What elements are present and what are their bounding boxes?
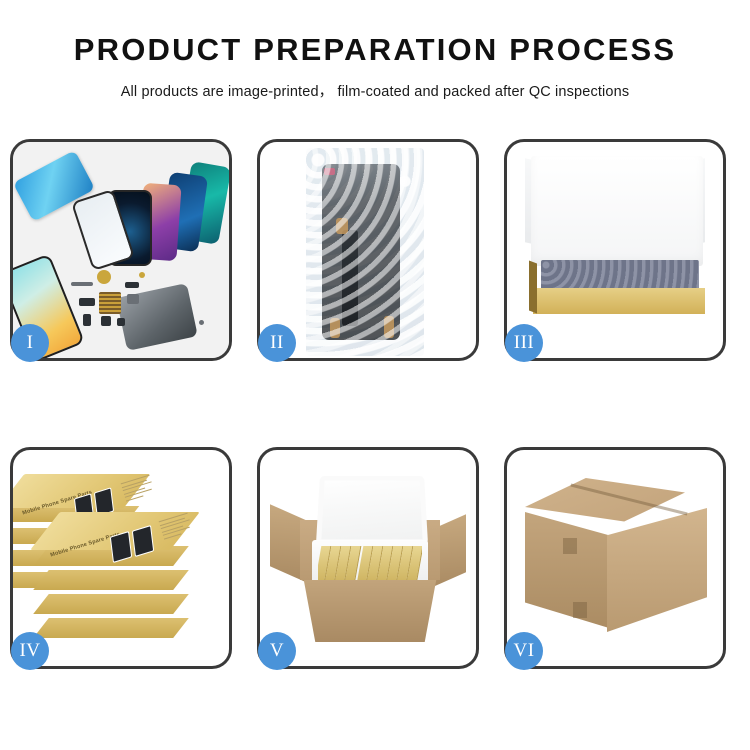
part-camera [127, 294, 139, 304]
step-image-4: Mobile Phone Spare Parts Mobil [13, 450, 229, 666]
box-front-panel [533, 288, 705, 314]
packed-gold-boxes [318, 546, 422, 584]
part-screw [139, 272, 145, 278]
step-panel-2: II [257, 139, 479, 361]
part-battery-tab [101, 316, 111, 326]
step-image-6 [507, 450, 723, 666]
step-badge-5: V [258, 632, 296, 670]
step-image-1 [13, 142, 229, 358]
protective-foam [541, 260, 699, 290]
wrapped-screen [322, 164, 400, 340]
part-speaker-ring [97, 270, 111, 284]
foam-case-lid [316, 476, 428, 545]
tape-tab-left [330, 318, 340, 338]
step-badge-6: VI [505, 632, 543, 670]
box-artwork-front-2 [132, 525, 154, 557]
product-preparation-infographic: PRODUCT PREPARATION PROCESS All products… [0, 0, 750, 750]
carton-label-patch-top [563, 538, 577, 554]
box-lid [531, 156, 703, 266]
steps-grid: I II [10, 139, 740, 669]
carton-right-face [607, 508, 707, 632]
step-image-3 [507, 142, 723, 358]
part-strip [71, 282, 93, 286]
carton-left-face [525, 512, 609, 628]
step-panel-3: III [504, 139, 726, 361]
tape-tab-right [384, 316, 394, 338]
step-badge-4: IV [11, 632, 49, 670]
box-artwork-front-1 [110, 531, 132, 563]
step-badge-2: II [258, 324, 296, 362]
step-badge-1: I [11, 324, 49, 362]
header: PRODUCT PREPARATION PROCESS All products… [0, 0, 750, 101]
carton-front-wall [298, 580, 442, 642]
step-image-2 [260, 142, 476, 358]
part-connector-grid [99, 292, 121, 314]
carton-label-patch-bottom [573, 602, 587, 618]
step-panel-4: Mobile Phone Spare Parts Mobil [10, 447, 232, 669]
screen-flex-cable [342, 230, 358, 326]
page-title: PRODUCT PREPARATION PROCESS [0, 34, 750, 65]
tape-tab-top [336, 218, 348, 234]
step-panel-1: I [10, 139, 232, 361]
part-small-flex [125, 282, 139, 288]
step-badge-3: III [505, 324, 543, 362]
step-panel-5: V [257, 447, 479, 669]
step-panel-6: VI [504, 447, 726, 669]
step-image-5 [260, 450, 476, 666]
part-screw-2 [199, 320, 204, 325]
part-screw-plate [117, 318, 125, 326]
qc-sticker [324, 168, 335, 175]
part-flex-cable [79, 298, 95, 306]
page-subtitle: All products are image-printed， film-coa… [0, 80, 750, 101]
box-left-edge [529, 261, 537, 314]
part-button [83, 314, 91, 326]
